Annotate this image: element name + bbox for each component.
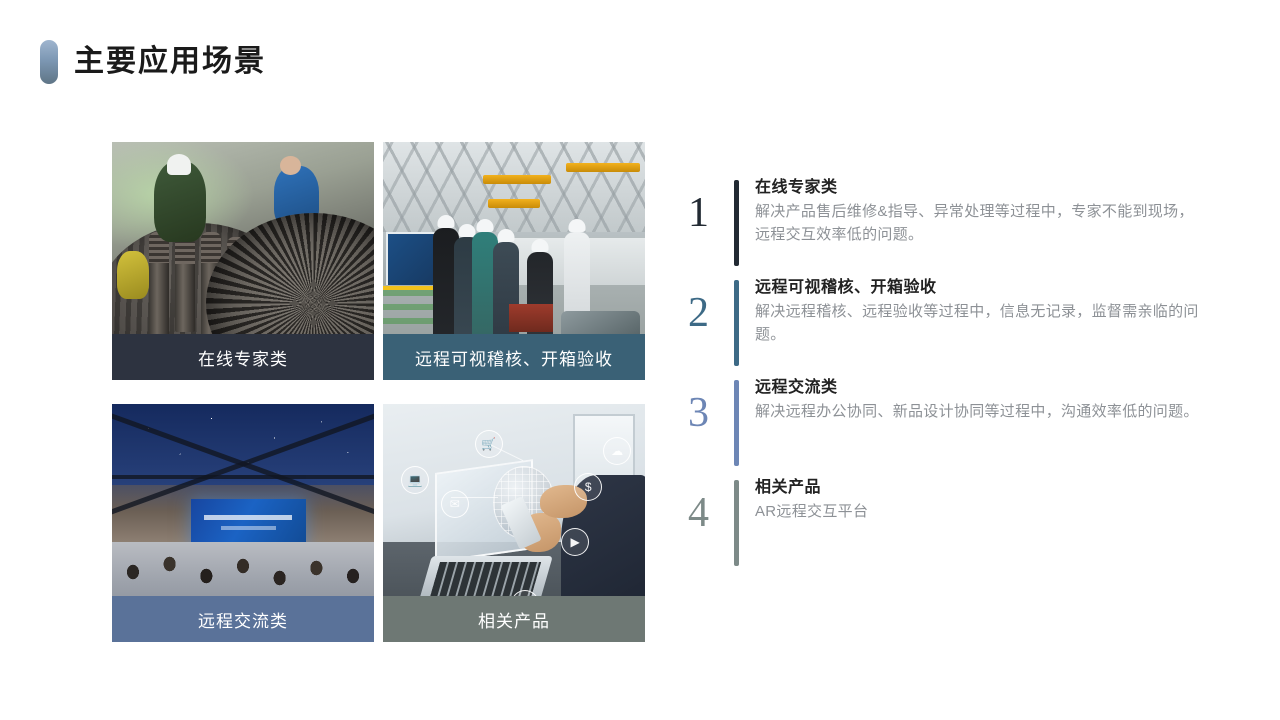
list-item[interactable]: 2 远程可视稽核、开箱验收 解决远程稽核、远程验收等过程中，信息无记录，监督需亲… [688,276,1208,376]
point-accent-bar [734,180,739,266]
worker-figure [274,166,319,228]
turbine-bolt [201,232,221,341]
photo-card-remote-audit[interactable]: 远程可视稽核、开箱验收 [383,142,645,380]
turbine-bolt [149,232,169,341]
point-title: 在线专家类 [755,176,1208,200]
point-accent-bar [734,280,739,366]
starlit-ceiling [112,404,374,485]
photo-caption: 在线专家类 [112,334,374,380]
list-item[interactable]: 3 远程交流类 解决远程办公协同、新品设计协同等过程中，沟通效率低的问题。 [688,376,1208,476]
list-item[interactable]: 1 在线专家类 解决产品售后维修&指导、异常处理等过程中，专家不能到现场，远程交… [688,176,1208,276]
point-body: 相关产品 AR远程交互平台 [755,476,1208,523]
scenario-photo-grid: 在线专家类 远程可视稽核、开箱验收 [112,142,645,642]
monitor-icon: 💻 [401,466,429,494]
photo-caption: 远程交流类 [112,596,374,642]
mail-icon: ✉ [441,490,469,518]
point-number: 3 [688,376,734,434]
equipment-fixture [509,304,554,333]
point-number: 4 [688,476,734,534]
photo-caption: 远程可视稽核、开箱验收 [383,334,645,380]
photo-card-online-expert[interactable]: 在线专家类 [112,142,374,380]
worker-figure [117,251,148,299]
point-description: 解决产品售后维修&指导、异常处理等过程中，专家不能到现场，远程交互效率低的问题。 [755,200,1205,247]
point-body: 远程交流类 解决远程办公协同、新品设计协同等过程中，沟通效率低的问题。 [755,376,1208,423]
ceiling-beam [112,475,374,479]
photo-card-remote-communication[interactable]: 远程交流类 [112,404,374,642]
turbine-bolt [175,237,195,332]
point-description: 解决远程稽核、远程验收等过程中，信息无记录，监督需亲临的问题。 [755,300,1205,347]
point-accent-bar [734,480,739,566]
overhead-crane [566,163,639,172]
factory-roof-truss [383,142,645,232]
worker-head [280,156,301,175]
point-title: 远程可视稽核、开箱验收 [755,276,1208,300]
point-number: 1 [688,176,734,234]
pill-bullet-icon [40,40,58,84]
slide-header: 主要应用场景 [40,40,266,84]
overhead-crane [483,175,551,184]
point-number: 2 [688,276,734,334]
page-title: 主要应用场景 [74,47,266,77]
point-description: 解决远程办公协同、新品设计协同等过程中，沟通效率低的问题。 [755,400,1205,423]
point-title: 远程交流类 [755,376,1208,400]
play-icon: ▶ [561,528,589,556]
cart-icon: 🛒 [475,430,503,458]
overhead-crane [488,199,540,208]
point-description: AR远程交互平台 [755,500,1205,523]
worker-helmet [167,154,191,175]
scenario-points-list: 1 在线专家类 解决产品售后维修&指导、异常处理等过程中，专家不能到现场，远程交… [688,176,1208,576]
point-body: 在线专家类 解决产品售后维修&指导、异常处理等过程中，专家不能到现场，远程交互效… [755,176,1208,247]
list-item[interactable]: 4 相关产品 AR远程交互平台 [688,476,1208,576]
photo-caption: 相关产品 [383,596,645,642]
photo-card-related-product[interactable]: 🛒 ✉ 💻 ☁ $ ▶ ☐ 相关产品 [383,404,645,642]
point-body: 远程可视稽核、开箱验收 解决远程稽核、远程验收等过程中，信息无记录，监督需亲临的… [755,276,1208,347]
point-accent-bar [734,380,739,466]
turbine-bolt [227,237,247,327]
point-title: 相关产品 [755,476,1208,500]
